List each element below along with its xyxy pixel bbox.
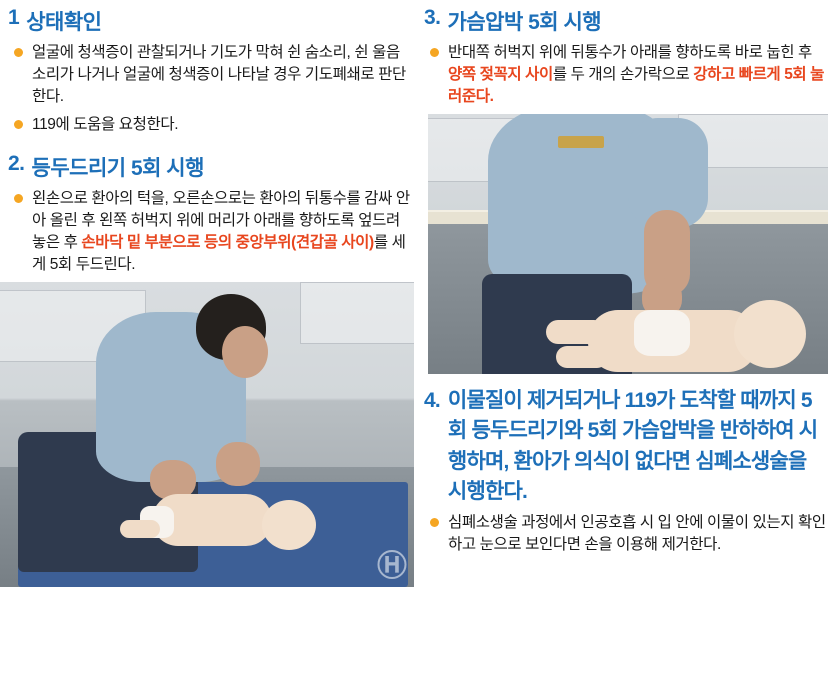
section-1-title: 상태확인 <box>26 6 414 36</box>
infant-manikin-head <box>734 300 806 368</box>
infant-manikin-head <box>262 500 316 550</box>
highlighted-text-run: 양쪽 젖꼭지 사이 <box>448 66 553 83</box>
section-3-title: 가슴압박 5회 시행 <box>448 6 830 36</box>
instructor-hand <box>216 442 260 486</box>
infant-manikin-leg <box>546 320 606 344</box>
text-run: 를 두 개의 손가락으로 <box>553 66 693 83</box>
left-column: 1 상태확인 얼굴에 청색증이 관찰되거나 기도가 막혀 쉰 숨소리, 쉰 울음… <box>0 0 414 587</box>
section-3-number: 3. <box>424 6 441 30</box>
section-2-title: 등두드리기 5회 시행 <box>32 152 414 182</box>
section-1-bullet-list: 얼굴에 청색증이 관찰되거나 기도가 막혀 쉰 숨소리, 쉰 울음소리가 나거나… <box>0 42 414 136</box>
section-4-bullet-list: 심폐소생술 과정에서 인공호흡 시 입 안에 이물이 있는지 확인하고 눈으로 … <box>416 512 830 556</box>
right-column: 3. 가슴압박 5회 시행 반대쪽 허벅지 위에 뒤통수가 아래를 향하도록 바… <box>416 0 830 558</box>
text-run: 반대쪽 허벅지 위에 뒤통수가 아래를 향하도록 바로 눕힌 후 <box>448 44 812 61</box>
section-1-heading: 1 상태확인 <box>0 0 414 38</box>
infographic-page: 1 상태확인 얼굴에 청색증이 관찰되거나 기도가 막혀 쉰 숨소리, 쉰 울음… <box>0 0 830 690</box>
section-1-number: 1 <box>8 6 19 30</box>
watermark-logo: Ⓗ <box>377 541 408 585</box>
infant-manikin-diaper <box>634 310 690 356</box>
section-3-bullet-list: 반대쪽 허벅지 위에 뒤통수가 아래를 향하도록 바로 눕힌 후 양쪽 젖꼭지 … <box>416 42 830 108</box>
section-2-number: 2. <box>8 152 25 176</box>
section-3-heading: 3. 가슴압박 5회 시행 <box>416 0 830 38</box>
instructor-face <box>222 326 268 378</box>
chest-compression-demonstration-photo <box>428 114 828 374</box>
section-4-heading: 4. 이물질이 제거되거나 119가 도착할 때까지 5회 등두드리기와 5회 … <box>416 374 830 508</box>
wall-panel <box>300 282 414 344</box>
infant-manikin-leg <box>556 346 608 368</box>
section-2-heading: 2. 등두드리기 5회 시행 <box>0 142 414 184</box>
back-blows-demonstration-photo: Ⓗ <box>0 282 414 587</box>
infant-manikin-leg <box>120 520 160 538</box>
section-2-bullet-list: 왼손으로 환아의 턱을, 오른손으로는 환아의 뒤통수를 감싸 안아 올린 후 … <box>0 188 414 276</box>
name-badge <box>558 136 604 148</box>
list-item: 반대쪽 허벅지 위에 뒤통수가 아래를 향하도록 바로 눕힌 후 양쪽 젖꼭지 … <box>428 42 826 108</box>
list-item: 119에 도움을 요청한다. <box>12 114 410 136</box>
list-item: 왼손으로 환아의 턱을, 오른손으로는 환아의 뒤통수를 감싸 안아 올린 후 … <box>12 188 410 276</box>
list-item: 얼굴에 청색증이 관찰되거나 기도가 막혀 쉰 숨소리, 쉰 울음소리가 나거나… <box>12 42 410 108</box>
section-4-number: 4. <box>424 386 440 416</box>
highlighted-text-run: 손바닥 밑 부분으로 등의 중앙부위(견갑골 사이) <box>81 234 373 251</box>
section-4-title: 이물질이 제거되거나 119가 도착할 때까지 5회 등두드리기와 5회 가슴압… <box>448 386 824 508</box>
list-item: 심폐소생술 과정에서 인공호흡 시 입 안에 이물이 있는지 확인하고 눈으로 … <box>428 512 826 556</box>
